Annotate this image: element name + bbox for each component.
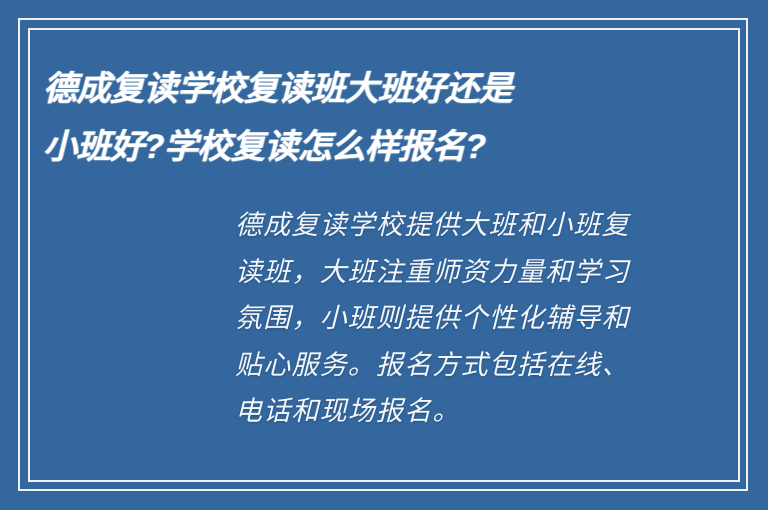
poster-body-text: 德成复读学校提供大班和小班复 读班，大班注重师资力量和学习 氛围，小班则提供个性… — [235, 203, 647, 436]
poster-title: 德成复读学校复读班大班好还是 小班好?学校复读怎么样报名? — [43, 60, 643, 176]
poster-body-line-4: 贴心服务。报名方式包括在线、 — [235, 343, 647, 390]
poster-canvas: 德成复读学校复读班大班好还是 小班好?学校复读怎么样报名? 德成复读学校提供大班… — [0, 0, 768, 510]
poster-body-line-2: 读班，大班注重师资力量和学习 — [235, 250, 647, 297]
poster-body-line-5: 电话和现场报名。 — [235, 389, 647, 436]
poster-title-line-2: 小班好?学校复读怎么样报名? — [43, 118, 643, 176]
poster-title-line-1: 德成复读学校复读班大班好还是 — [43, 60, 643, 118]
poster-body-line-3: 氛围，小班则提供个性化辅导和 — [235, 296, 647, 343]
poster-body-line-1: 德成复读学校提供大班和小班复 — [235, 203, 647, 250]
